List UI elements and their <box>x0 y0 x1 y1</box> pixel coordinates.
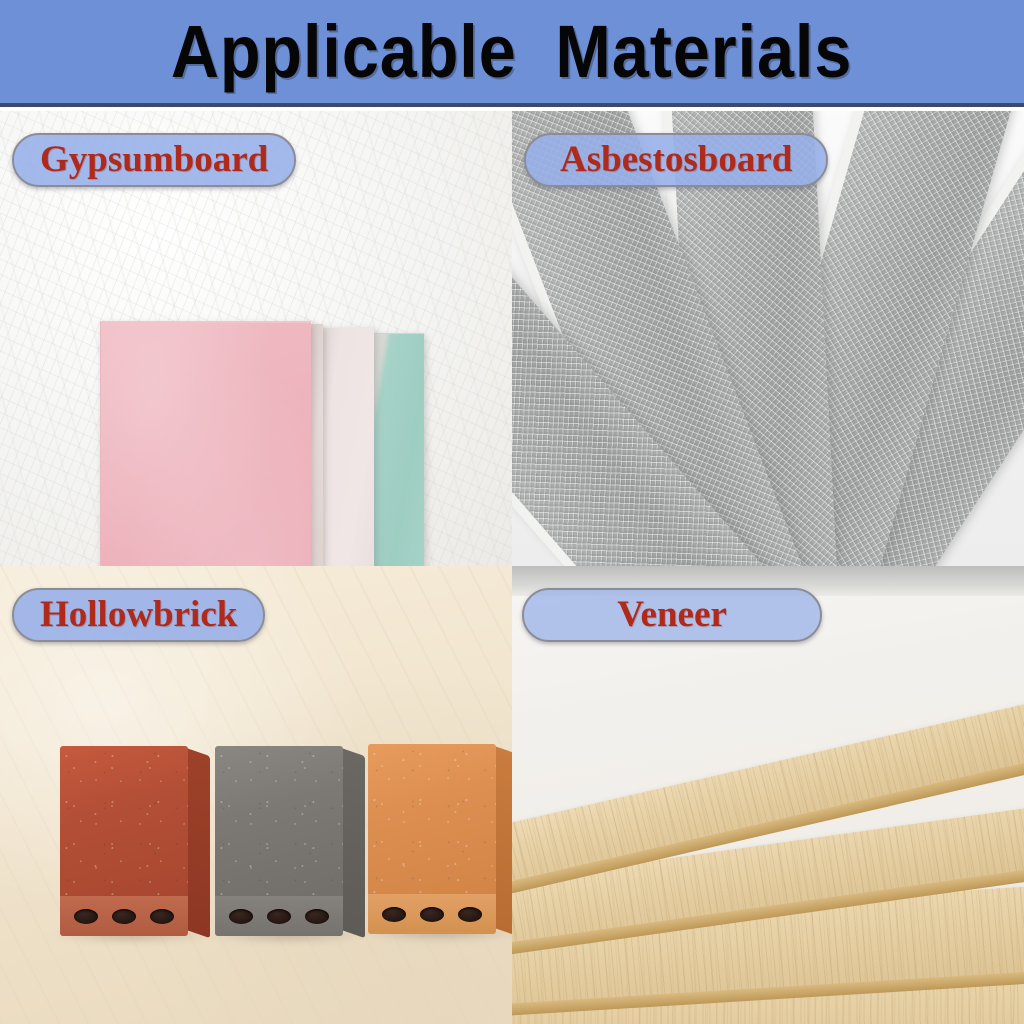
brick-hole <box>229 909 253 924</box>
brick-hole <box>420 907 444 922</box>
label-pill-gypsumboard[interactable]: Gypsumboard <box>12 133 296 187</box>
orange-brick-top-face <box>368 744 496 896</box>
label-pill-veneer[interactable]: Veneer <box>522 588 822 642</box>
red-brick-front-face <box>60 896 188 936</box>
panel-veneer[interactable]: Veneer <box>512 566 1024 1024</box>
label-text-gypsumboard: Gypsumboard <box>40 140 268 180</box>
gray-brick <box>215 746 343 936</box>
pink-gypsum-board <box>100 321 311 566</box>
orange-brick-texture <box>368 744 496 896</box>
white-gypsum-board <box>318 327 374 566</box>
brick-hole <box>458 907 482 922</box>
panel-asbestosboard[interactable]: Asbestosboard <box>512 111 1024 566</box>
label-pill-hollowbrick[interactable]: Hollowbrick <box>12 588 265 642</box>
gray-brick-side <box>341 748 365 938</box>
infographic-page: Applicable Materials Gypsumboard Asbesto… <box>0 0 1024 1024</box>
label-text-veneer: Veneer <box>617 595 727 635</box>
red-brick <box>60 746 188 936</box>
label-text-asbestosboard: Asbestosboard <box>560 140 792 180</box>
teal-gypsum-board <box>372 333 424 566</box>
material-grid: Gypsumboard Asbestosboard <box>0 111 1024 1024</box>
panel-hollowbrick[interactable]: Hollowbrick <box>0 566 512 1024</box>
label-pill-asbestosboard[interactable]: Asbestosboard <box>524 133 828 187</box>
brick-hole <box>150 909 174 924</box>
brick-hole <box>74 909 98 924</box>
red-brick-top-face <box>60 746 188 898</box>
orange-brick <box>368 744 496 934</box>
brick-hole <box>267 909 291 924</box>
page-title: Applicable Materials <box>171 15 852 89</box>
gray-brick-texture <box>215 746 343 898</box>
header-banner: Applicable Materials <box>0 0 1024 107</box>
brick-hole <box>382 907 406 922</box>
red-brick-side <box>186 748 210 938</box>
label-text-hollowbrick: Hollowbrick <box>40 595 237 635</box>
gray-brick-top-face <box>215 746 343 898</box>
orange-brick-front-face <box>368 894 496 934</box>
orange-brick-side <box>494 746 512 936</box>
brick-hole <box>112 909 136 924</box>
gray-brick-front-face <box>215 896 343 936</box>
brick-hole <box>305 909 329 924</box>
panel-gypsumboard[interactable]: Gypsumboard <box>0 111 512 566</box>
red-brick-texture <box>60 746 188 898</box>
